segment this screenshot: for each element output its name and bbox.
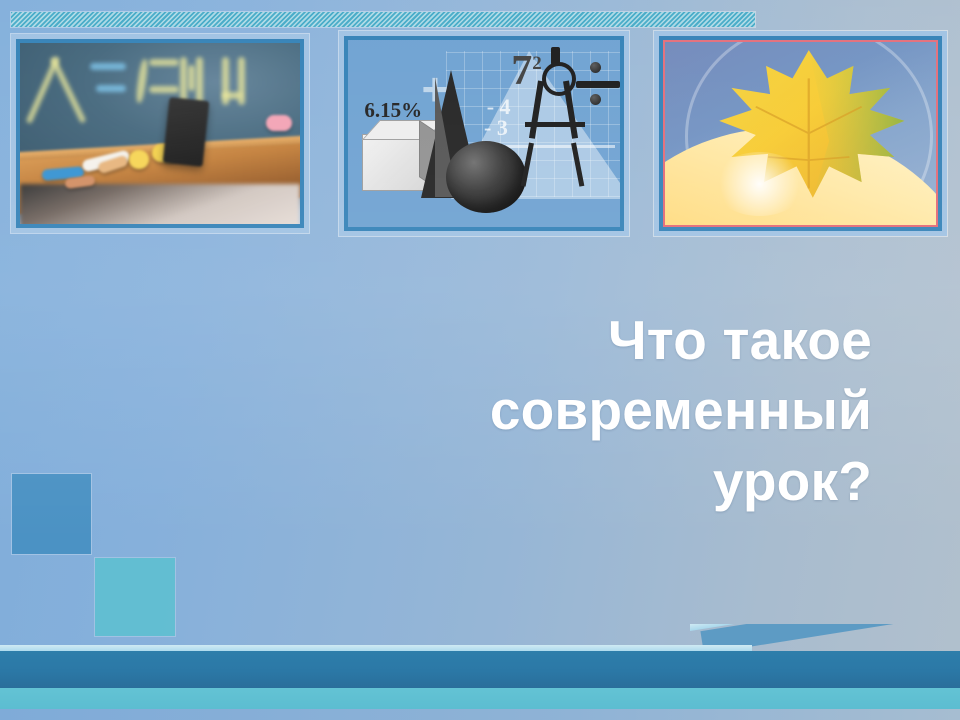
mathematics-illustration: + 6.15% 72 - 4 - 3 — [348, 40, 620, 227]
bottom-band-foot — [0, 709, 960, 720]
chalk-mark-sh3 — [222, 92, 242, 99]
chalk-mark-e1 — [90, 63, 126, 70]
chalkboard-eraser — [162, 97, 209, 167]
chalk-mark-m3 — [188, 65, 195, 91]
desk-blur — [20, 184, 300, 224]
chalk-mark-m2 — [196, 57, 203, 105]
image-frame-autumn-leaf[interactable] — [654, 31, 947, 236]
image-frame-mathematics-inner: + 6.15% 72 - 4 - 3 — [344, 36, 624, 231]
image-frame-chalkboard[interactable] — [11, 34, 309, 233]
decorative-square-dark-blue — [12, 474, 91, 554]
slide-title: Что такое современный урок? — [200, 305, 872, 516]
top-hatched-accent-bar — [11, 12, 755, 27]
chalk-mark-e2 — [96, 85, 126, 92]
presentation-slide: + 6.15% 72 - 4 - 3 — [0, 0, 960, 720]
image-frame-autumn-leaf-inner — [659, 36, 942, 231]
chalk-stick-yellow1 — [129, 150, 149, 169]
image-frame-mathematics[interactable]: + 6.15% 72 - 4 - 3 — [339, 31, 629, 236]
leaf-specular-glow — [713, 152, 807, 216]
seven-exponent: 2 — [532, 53, 541, 74]
seven-base: 7 — [511, 48, 532, 94]
autumn-leaf-photo — [663, 40, 938, 227]
compass-crossbar — [525, 122, 585, 127]
chalkboard-photo — [20, 43, 300, 224]
cube-front-face — [362, 134, 426, 191]
chalk-stick-pink — [266, 115, 292, 131]
divide-bar — [576, 81, 620, 88]
image-frame-chalkboard-inner — [16, 39, 304, 228]
bottom-band-cyan — [0, 688, 960, 709]
chalk-mark-c-bottom — [149, 86, 179, 93]
chalk-mark-c-top — [149, 59, 179, 66]
decorative-square-cyan — [95, 558, 175, 636]
bottom-band — [0, 651, 960, 688]
sphere-shape — [446, 141, 526, 213]
minus-three-label: - 3 — [484, 115, 508, 141]
